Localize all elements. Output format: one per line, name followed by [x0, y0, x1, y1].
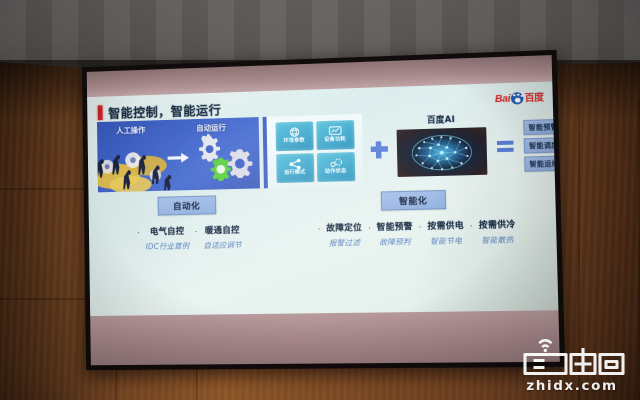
tile-action-state[interactable]: 动作状态 [316, 152, 355, 182]
bullet-group: · 电气自控 IDC行业首例 · 暖通自控 自适应调节 [132, 225, 243, 253]
list-item: 按需供电 智能节电 [426, 220, 465, 247]
bullet-list: · 故障定位 报警过滤 · 智能预警 故障预判 [281, 218, 550, 250]
neural-network-brain-icon [410, 132, 474, 172]
sensor-input-panel: 环境参数 设备功耗 [263, 114, 364, 188]
list-item: 暖通自控 自适应调节 [202, 225, 243, 252]
diagram-row: 人工操作 自动运行 [97, 108, 547, 192]
presentation-photo: 智能控制，智能运行 Bai 百度 人工操作 自动运行 [0, 0, 640, 400]
baidu-ai-block: 百度AI [394, 110, 490, 185]
tile-environment-params[interactable]: 环境参数 [275, 121, 313, 151]
automation-illustration: 人工操作 自动运行 [97, 117, 260, 192]
baidu-ai-title: 百度AI [427, 113, 455, 126]
watermark-url: zhidx.com [526, 378, 617, 394]
column-badge: 自动化 [157, 195, 216, 215]
item-sub: 报警过滤 [327, 237, 363, 249]
ai-outputs: 智能预警 智能调度 智能运维 [521, 107, 559, 182]
item-main: 暖通自控 [203, 225, 241, 238]
item-main: 智能预警 [377, 221, 413, 234]
projection-screen: 智能控制，智能运行 Bai 百度 人工操作 自动运行 [82, 50, 565, 370]
item-sub: IDC行业首例 [145, 241, 189, 253]
item-main: 按需供电 [427, 220, 464, 233]
bullet-dot: · [132, 227, 144, 240]
bullet-group: · 故障定位 报警过滤 · 智能预警 故障预判 [313, 219, 517, 249]
item-sub: 智能节电 [428, 235, 465, 247]
watermark: zhidx.com [510, 333, 634, 394]
list-item: 智能预警 故障预判 [376, 221, 415, 248]
bullet-dot: · [414, 221, 427, 234]
list-item: 按需供冷 智能散热 [478, 219, 517, 246]
neural-brain-image [397, 127, 488, 177]
column-badge: 智能化 [381, 190, 446, 211]
baidu-paw-icon [511, 92, 524, 105]
output-chip: 智能调度 [524, 136, 559, 153]
bullet-dot: · [363, 222, 376, 235]
tile-label: 设备功耗 [324, 138, 346, 144]
bullet-dot: · [465, 220, 478, 233]
bullet-list: · 电气自控 IDC行业首例 · 暖通自控 自适应调节 [95, 224, 282, 253]
output-chip: 智能运维 [524, 154, 558, 171]
item-sub: 自适应调节 [203, 239, 241, 251]
slide-content: 智能控制，智能运行 Bai 百度 人工操作 自动运行 [87, 81, 558, 316]
item-main: 电气自控 [145, 226, 189, 239]
output-chip: 智能预警 [523, 118, 558, 135]
column-intelligence: 智能化 · 故障定位 报警过滤 · [280, 187, 552, 305]
list-item: 电气自控 IDC行业首例 [144, 226, 190, 253]
bullet-dot: · [190, 225, 202, 238]
baidu-logo-chinese: 百度 [524, 90, 543, 105]
capability-columns: 自动化 · 电气自控 IDC行业首例 · [94, 187, 552, 308]
list-item: 故障定位 报警过滤 [325, 222, 363, 249]
item-sub: 智能散热 [479, 234, 516, 246]
tile-label: 动作状态 [325, 170, 347, 176]
tile-operation-mode[interactable]: 运行模式 [276, 153, 314, 183]
operator-plus [366, 113, 392, 186]
screen-frame: 智能控制，智能运行 Bai 百度 人工操作 自动运行 [82, 50, 565, 370]
equals-icon [497, 140, 514, 153]
auto-gears-art [190, 131, 259, 190]
column-automation: 自动化 · 电气自控 IDC行业首例 · [94, 194, 282, 308]
tile-device-power[interactable]: 设备功耗 [316, 120, 355, 150]
sensor-tiles: 环境参数 设备功耗 [271, 115, 359, 186]
robot-head-wifi-icon [516, 333, 628, 377]
baidu-logo-latin: Bai [495, 93, 511, 105]
title-accent-bar [98, 105, 103, 120]
screen-surface: 智能控制，智能运行 Bai 百度 人工操作 自动运行 [87, 55, 560, 365]
workers-gears-art [97, 135, 183, 192]
illustration-label-manual: 人工操作 [116, 125, 145, 137]
operator-equals [492, 109, 519, 183]
item-main: 故障定位 [326, 222, 362, 235]
tile-label: 运行模式 [284, 171, 305, 177]
item-main: 按需供冷 [479, 219, 516, 232]
tile-label: 环境参数 [283, 139, 304, 145]
plus-icon [370, 141, 388, 159]
bullet-dot: · [313, 223, 326, 236]
item-sub: 故障预判 [377, 236, 413, 248]
right-arrow-icon [168, 153, 189, 163]
baidu-logo: Bai 百度 [494, 90, 543, 106]
